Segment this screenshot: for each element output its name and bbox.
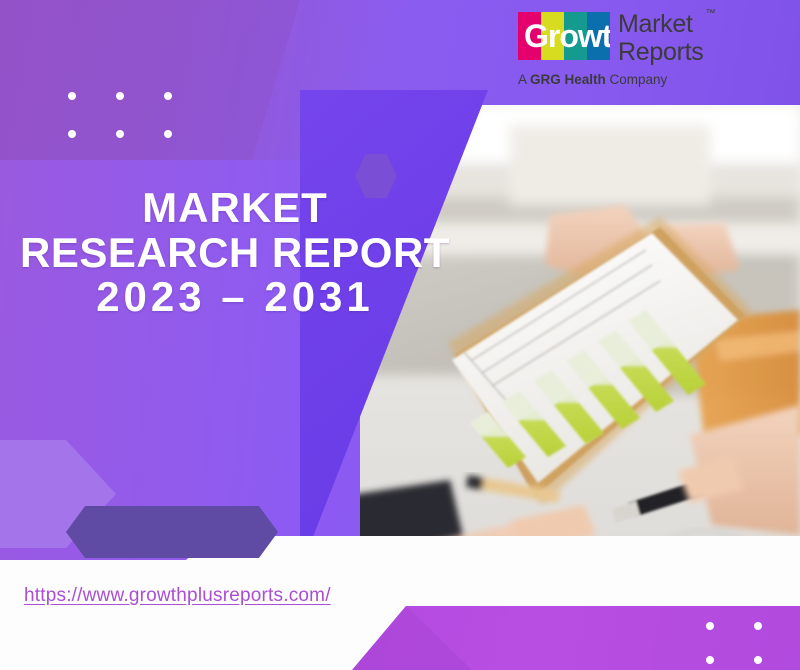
- dot: [116, 92, 124, 100]
- trademark-symbol: ™: [705, 8, 715, 19]
- logo-line-market: Market: [618, 12, 703, 37]
- tagline-bold: GRG Health: [530, 72, 606, 87]
- dot: [164, 92, 172, 100]
- dot: [754, 622, 762, 630]
- tagline-suffix: Company: [606, 72, 668, 87]
- logo-text-block: Market Reports ™: [618, 12, 703, 65]
- decor-hexagon-bar: [66, 506, 278, 558]
- brand-logo[interactable]: Growth+ Market Reports ™ A GRG Health Co…: [518, 12, 790, 96]
- logo-line-reports: Reports: [618, 40, 703, 65]
- dot: [116, 130, 124, 138]
- title-line-1: MARKET: [0, 186, 470, 231]
- dot: [164, 130, 172, 138]
- tagline-prefix: A: [518, 72, 530, 87]
- dot: [68, 92, 76, 100]
- title-line-3: 2023 – 2031: [0, 275, 470, 320]
- decor-dot-grid-top-left: [68, 92, 172, 138]
- dot: [68, 130, 76, 138]
- dot: [754, 656, 762, 664]
- website-url-link[interactable]: https://www.growthplusreports.com/: [24, 585, 331, 607]
- logo-main-row: Growth+ Market Reports ™: [518, 12, 790, 65]
- title-line-2: RESEARCH REPORT: [0, 231, 470, 276]
- decor-dot-grid-bottom-right: [706, 622, 800, 664]
- logo-color-blocks: Growth+: [518, 12, 610, 60]
- logo-tagline: A GRG Health Company: [518, 72, 790, 87]
- page-title: MARKET RESEARCH REPORT 2023 – 2031: [0, 186, 470, 320]
- dot: [706, 656, 714, 664]
- dot: [706, 622, 714, 630]
- logo-wordmark: Growth+: [524, 18, 610, 54]
- report-cover: MARKET RESEARCH REPORT 2023 – 2031 https…: [0, 0, 800, 670]
